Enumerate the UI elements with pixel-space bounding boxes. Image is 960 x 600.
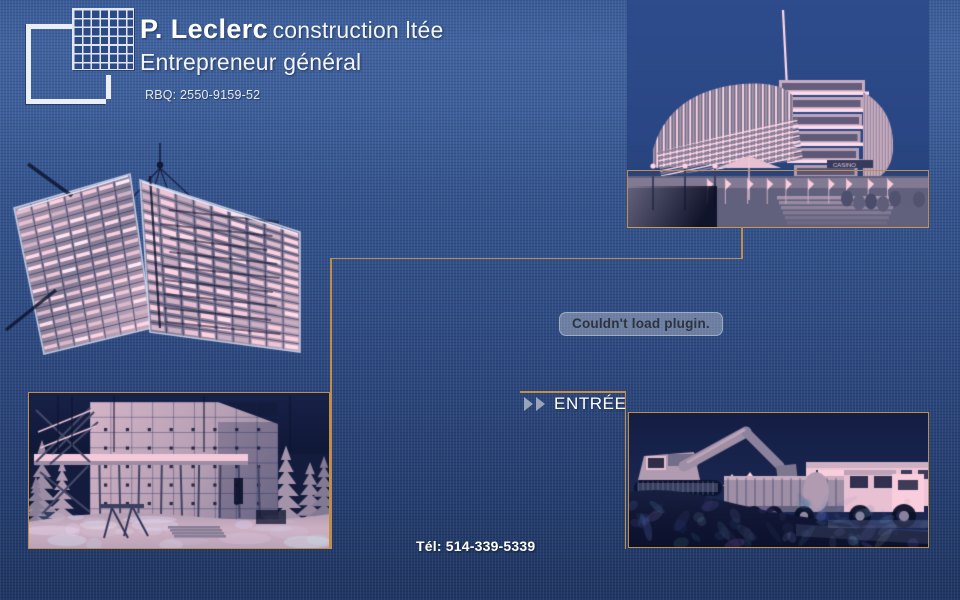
logo-grid-square	[72, 8, 134, 70]
connector-rule-left-vertical	[330, 258, 332, 549]
triangle-right-icon	[524, 397, 533, 411]
company-tagline: Entrepreneur général	[140, 49, 443, 76]
company-suffix: construction ltée	[273, 17, 444, 43]
excavator-loading-dump-truck	[628, 412, 929, 548]
leclerc-l-grid-logo	[26, 8, 136, 106]
plugin-error-message: Couldn't load plugin.	[559, 312, 723, 336]
company-name: P. Leclerc	[140, 14, 268, 44]
triangle-right-icon	[536, 397, 545, 411]
brand-title-line: P. Leclerc construction ltée	[140, 16, 443, 43]
connector-rule-horizontal	[330, 258, 742, 260]
entree-label: ENTRÉE	[554, 394, 627, 414]
winter-construction-site	[28, 392, 330, 549]
connector-rule-casino-vertical	[741, 227, 743, 259]
page-root: P. Leclerc construction ltée Entrepreneu…	[0, 0, 960, 600]
crane-lifting-formwork-panel	[0, 140, 330, 355]
brand-block: P. Leclerc construction ltée Entrepreneu…	[140, 16, 443, 76]
contact-phone: Tél: 514-339-5339	[416, 538, 535, 554]
license-number: RBQ: 2550-9159-52	[145, 88, 260, 102]
entree-link[interactable]: ENTRÉE	[520, 391, 627, 417]
casino-de-montreal-building	[627, 0, 929, 228]
